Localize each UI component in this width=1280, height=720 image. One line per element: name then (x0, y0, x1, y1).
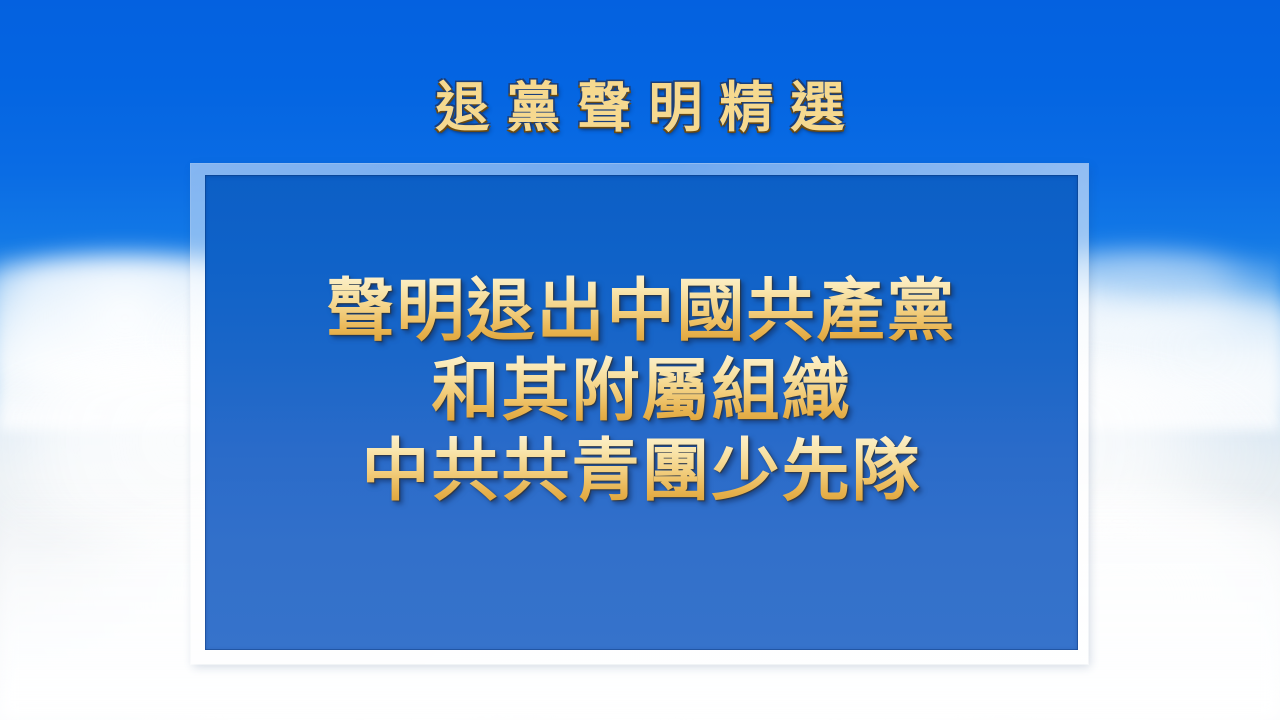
statement-line-2: 和其附屬組織 (205, 351, 1078, 431)
statement-line-3: 中共共青團少先隊 (205, 431, 1078, 511)
slide-canvas: 退黨聲明精選 聲明退出中國共產黨 和其附屬組織 中共共青團少先隊 (0, 0, 1280, 720)
statement-line-1: 聲明退出中國共產黨 (205, 271, 1078, 351)
statement-text-block: 聲明退出中國共產黨 和其附屬組織 中共共青團少先隊 (205, 271, 1078, 511)
statement-panel-frame: 聲明退出中國共產黨 和其附屬組織 中共共青團少先隊 (191, 164, 1088, 664)
page-title: 退黨聲明精選 (0, 76, 1280, 138)
statement-panel: 聲明退出中國共產黨 和其附屬組織 中共共青團少先隊 (205, 175, 1078, 650)
